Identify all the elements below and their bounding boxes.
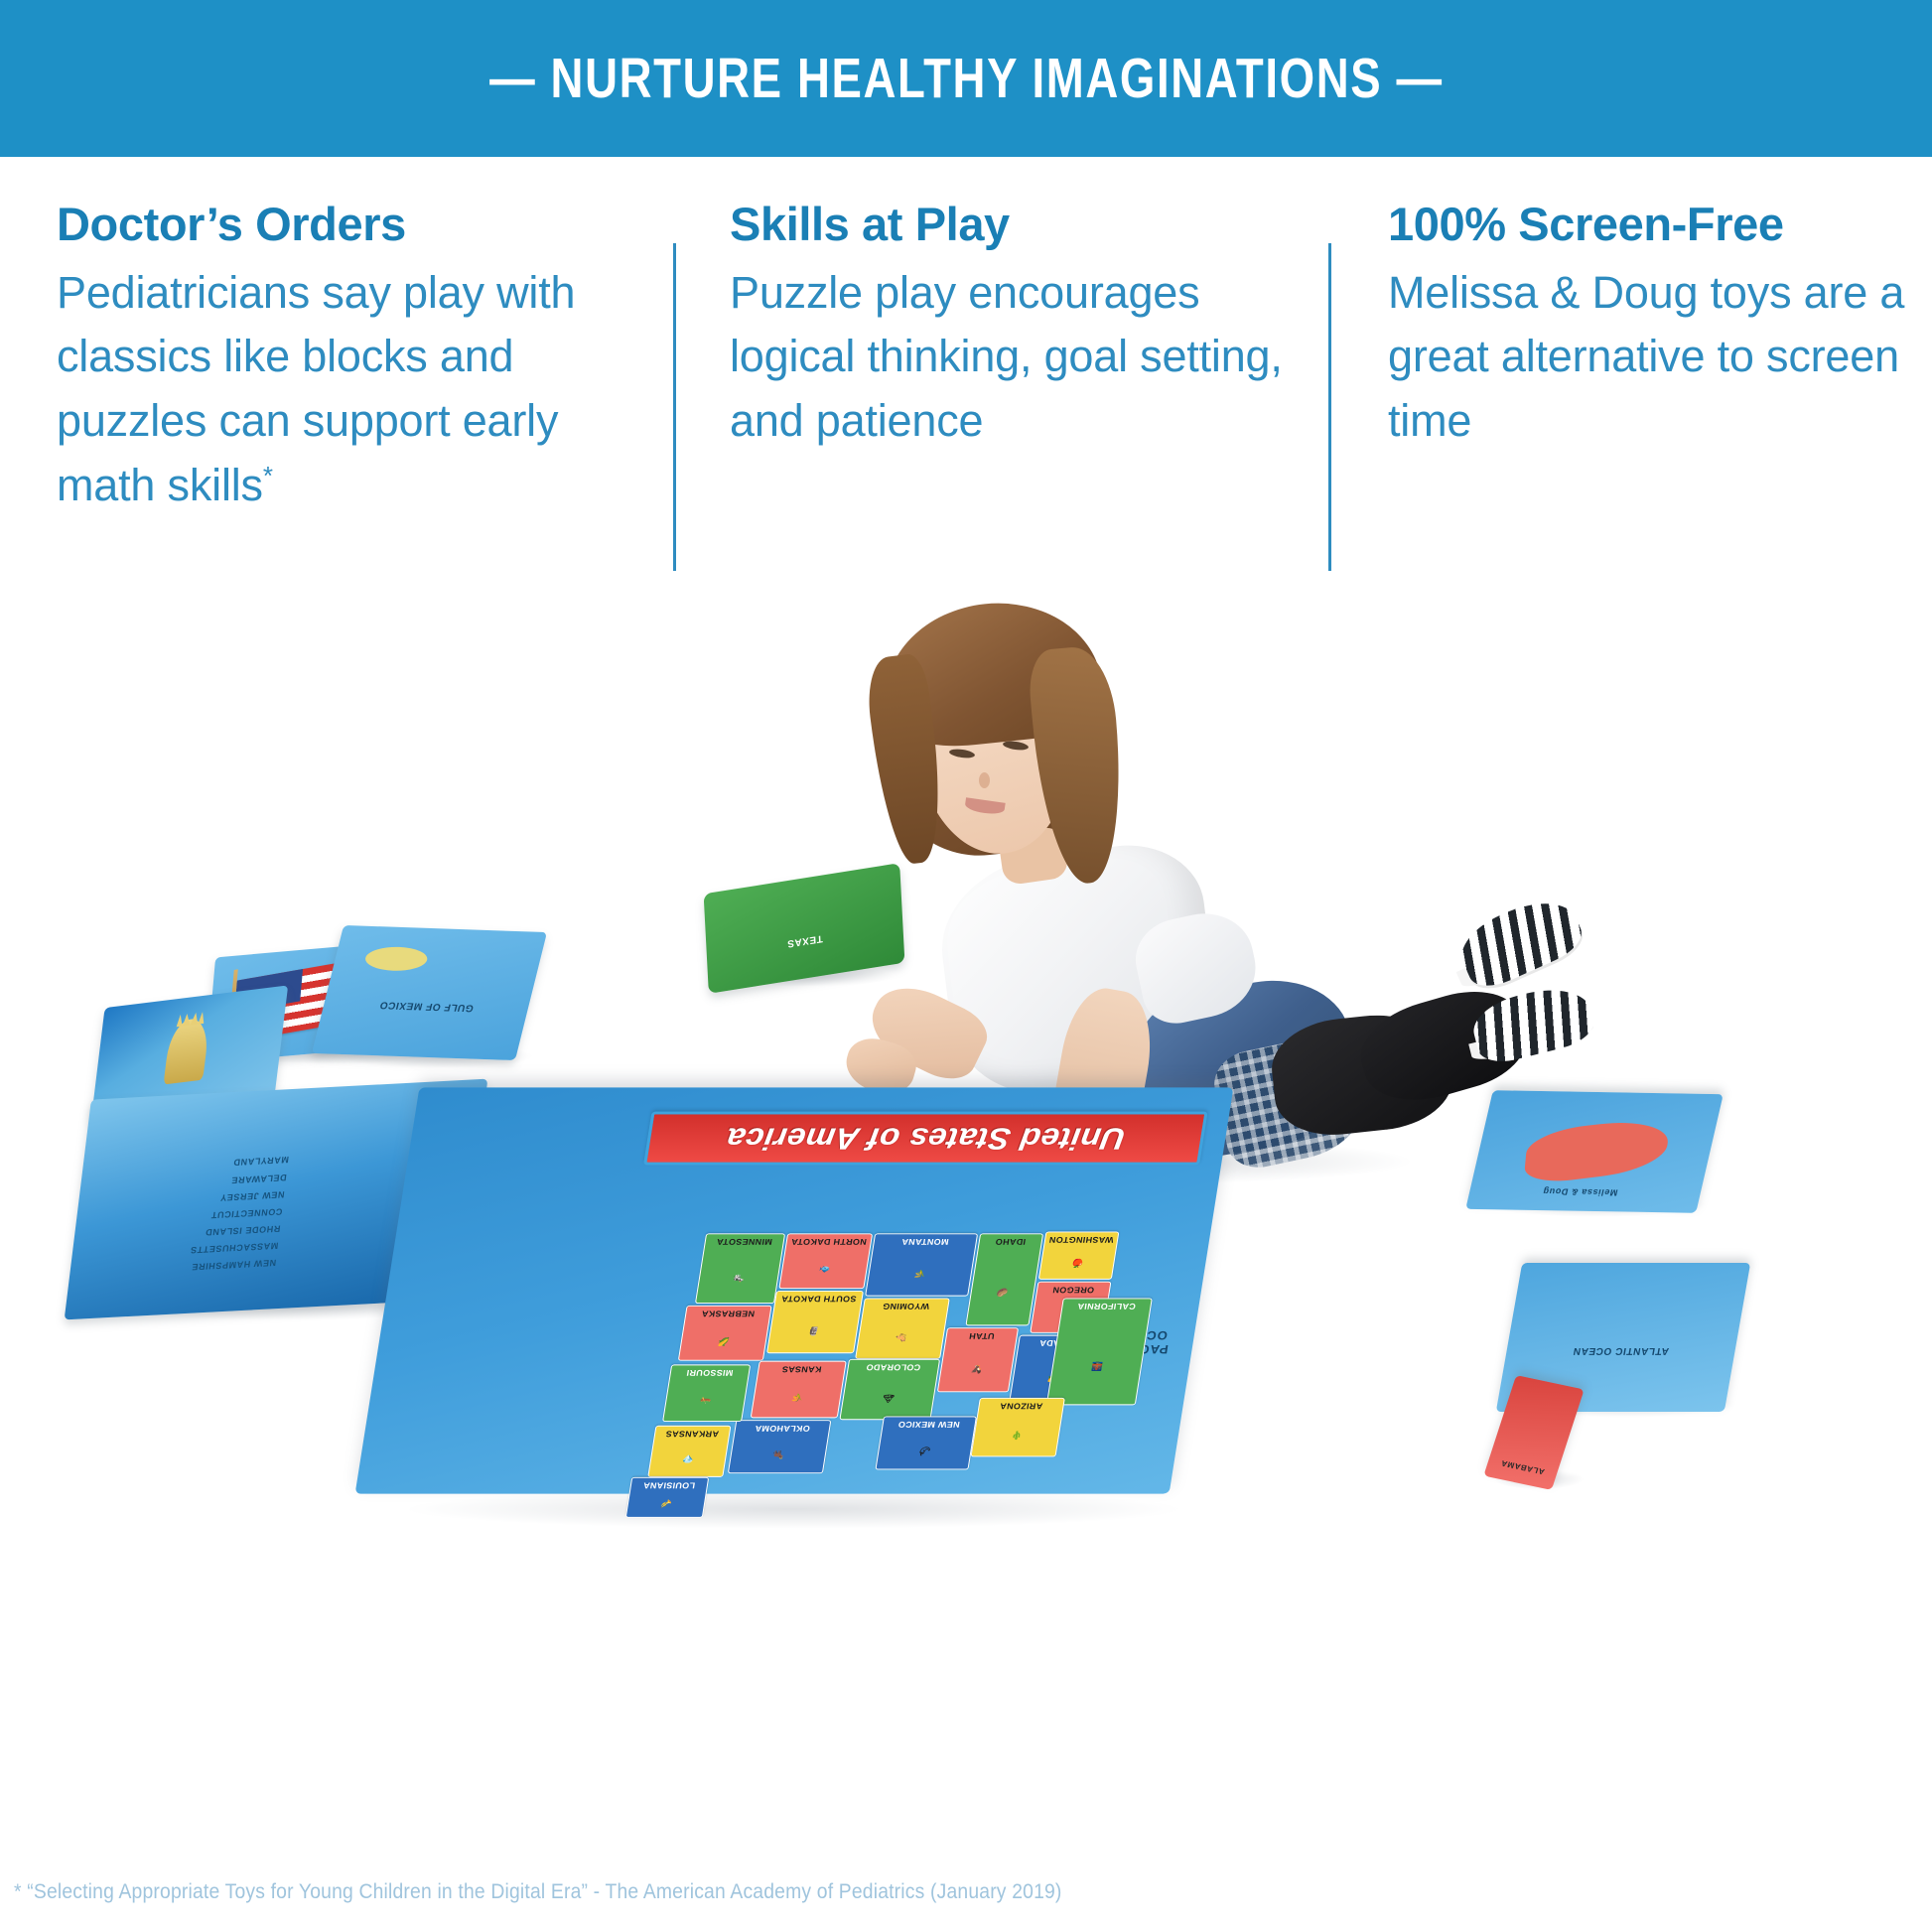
state-icon: 🐟	[818, 1262, 831, 1273]
column-divider-1	[673, 243, 676, 571]
piece-label: TEXAS	[736, 923, 874, 957]
piece-label: GULF OF MEXICO	[360, 998, 492, 1014]
state-arkansas[interactable]: 💎ARKANSAS	[647, 1426, 731, 1477]
page-banner: — NURTURE HEALTHY IMAGINATIONS —	[0, 0, 1932, 157]
state-icon: 🌶	[918, 1444, 932, 1454]
state-california[interactable]: 🌉CALIFORNIA	[1046, 1298, 1153, 1405]
state-arizona[interactable]: 🌵ARIZONA	[970, 1398, 1064, 1457]
state-icon: 🌾	[913, 1267, 926, 1278]
state-icon: 🐂	[771, 1448, 784, 1458]
state-icon: 🐄	[733, 1271, 746, 1282]
hawaii-island-icon	[1523, 1116, 1670, 1185]
state-montana[interactable]: 🌾MONTANA	[865, 1233, 978, 1296]
child-nose	[979, 772, 990, 788]
state-minnesota[interactable]: 🐄MINNESOTA	[695, 1233, 785, 1304]
state-icon: 🛶	[699, 1394, 712, 1405]
state-icon: 🌽	[718, 1334, 731, 1345]
hawaii-piece[interactable]: Melissa & Doug	[1465, 1090, 1724, 1213]
feature-column-skills-at-play: Skills at Play Puzzle play encourages lo…	[730, 199, 1315, 454]
state-south-dakota[interactable]: 🗿SOUTH DAKOTA	[766, 1291, 864, 1353]
piece-label: ALABAMA	[1489, 1455, 1557, 1478]
state-icon: 🌵	[1010, 1429, 1023, 1440]
state-icon: 🎺	[660, 1496, 673, 1507]
state-oklahoma[interactable]: 🐂OKLAHOMA	[728, 1420, 832, 1473]
state-new-mexico[interactable]: 🌶NEW MEXICO	[875, 1416, 977, 1469]
piece-label: ATLANTIC OCEAN	[1558, 1344, 1685, 1356]
state-kansas[interactable]: 🌾KANSAS	[751, 1361, 847, 1419]
state-icon: 🗿	[807, 1323, 820, 1334]
state-utah[interactable]: 🦅UTAH	[937, 1327, 1019, 1392]
feature-body-1: Pediatricians say play with classics lik…	[57, 261, 652, 518]
usa-floor-puzzle-board[interactable]: PACIFICOCEAN 🍎WASHINGTON 🌲OREGON 🥔IDAHO …	[355, 1087, 1234, 1493]
footnote-marker-1: *	[263, 461, 273, 490]
state-wyoming[interactable]: 🐎WYOMING	[855, 1298, 950, 1358]
feature-heading-2: Skills at Play	[730, 199, 1315, 251]
lake-icon	[362, 946, 430, 972]
feature-columns: Doctor’s Orders Pediatricians say play w…	[0, 199, 1932, 616]
state-washington[interactable]: 🍎WASHINGTON	[1038, 1231, 1120, 1279]
state-icon: 🌾	[791, 1391, 804, 1402]
state-missouri[interactable]: 🛶MISSOURI	[662, 1364, 751, 1422]
board-shadow	[401, 1489, 1185, 1529]
state-louisiana[interactable]: 🎺LOUISIANA	[625, 1477, 709, 1518]
state-icon: 🥔	[996, 1285, 1009, 1296]
feature-column-screen-free: 100% Screen-Free Melissa & Doug toys are…	[1388, 199, 1932, 454]
footnote: * “Selecting Appropriate Toys for Young …	[14, 1880, 1062, 1904]
puzzle-title-text: United States of America	[724, 1121, 1128, 1156]
state-icon: 🌉	[1091, 1359, 1104, 1370]
feature-body-3: Melissa & Doug toys are a great alternat…	[1388, 261, 1932, 454]
feature-body-2: Puzzle play encourages logical thinking,…	[730, 261, 1315, 454]
state-icon: 🍎	[1071, 1256, 1084, 1267]
canada-border-piece[interactable]: GULF OF MEXICO	[312, 925, 547, 1060]
state-nebraska[interactable]: 🌽NEBRASKA	[678, 1306, 772, 1361]
column-divider-2	[1328, 243, 1331, 571]
feature-heading-1: Doctor’s Orders	[57, 199, 652, 251]
child-striped-shoe-1	[1451, 888, 1587, 995]
state-icon: 🐎	[895, 1330, 907, 1341]
state-colorado[interactable]: 🏔COLORADO	[839, 1359, 940, 1420]
statue-of-liberty-icon	[164, 1017, 210, 1084]
state-icon: 💎	[682, 1451, 695, 1462]
state-icon: 🏔	[882, 1391, 896, 1402]
brand-label: Melissa & Doug	[1514, 1185, 1645, 1198]
puzzle-title-banner: United States of America	[643, 1112, 1208, 1166]
piece-label: NEW HAMPSHIRE MASSACHUSETTS RHODE ISLAND…	[90, 1151, 290, 1280]
state-icon: 🦅	[970, 1362, 983, 1373]
product-photo: GULF OF MEXICO NEW HAMPSHIRE MASSACHUSET…	[0, 695, 1932, 1847]
feature-heading-3: 100% Screen-Free	[1388, 199, 1932, 251]
state-north-dakota[interactable]: 🐟NORTH DAKOTA	[778, 1233, 873, 1289]
feature-column-doctors-orders: Doctor’s Orders Pediatricians say play w…	[57, 199, 652, 518]
banner-title: — NURTURE HEALTHY IMAGINATIONS —	[489, 46, 1444, 111]
feature-body-text-1: Pediatricians say play with classics lik…	[57, 267, 575, 510]
